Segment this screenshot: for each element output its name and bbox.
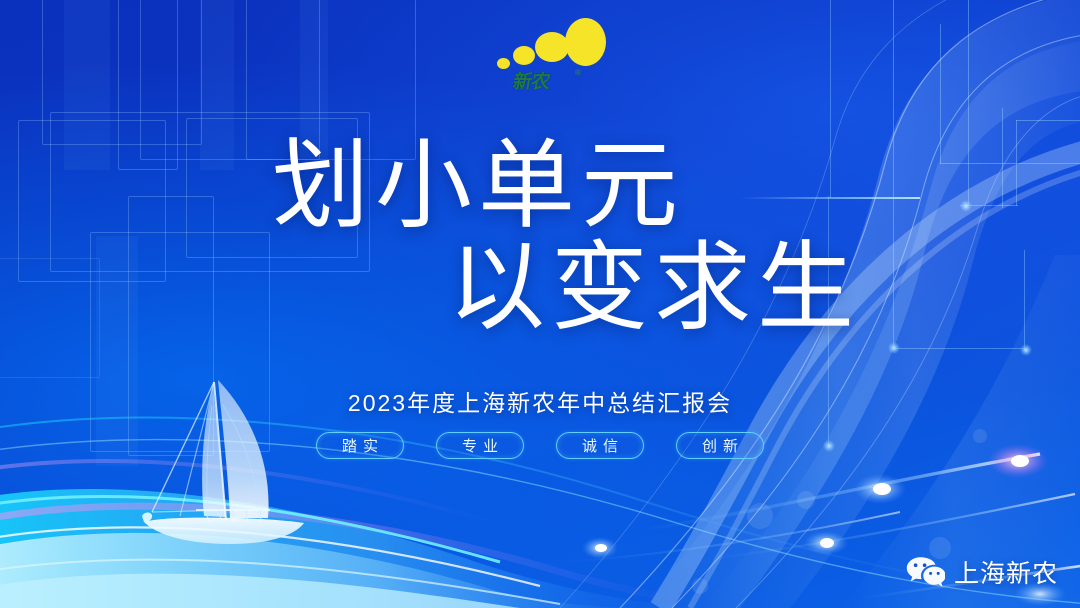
poster-canvas: 新农 ® 划小单元 以变求生 2023年度上海新农年中总结汇报会 踏实 专业 诚… <box>0 0 1080 608</box>
tag-pill-2[interactable]: 诚信 <box>556 432 644 459</box>
logo-bubble-4 <box>565 18 606 66</box>
value-tags: 踏实 专业 诚信 创新 <box>0 432 1080 459</box>
wechat-footer: 上海新农 <box>905 554 1058 590</box>
headline-line-1: 划小单元 <box>272 138 684 237</box>
tag-pill-3[interactable]: 创新 <box>676 432 764 459</box>
wechat-account-name: 上海新农 <box>954 554 1058 590</box>
xinnong-logo: 新农 ® <box>495 18 600 98</box>
logo-trademark: ® <box>575 68 581 77</box>
headline-line-2: 以变求生 <box>448 240 860 339</box>
logo-bubble-2 <box>513 46 535 65</box>
tag-pill-0[interactable]: 踏实 <box>316 432 404 459</box>
logo-wordmark: 新农 <box>511 72 577 94</box>
wechat-icon <box>905 555 945 589</box>
logo-bubble-3 <box>535 32 569 62</box>
tag-pill-1[interactable]: 专业 <box>436 432 524 459</box>
subtitle: 2023年度上海新农年中总结汇报会 <box>0 384 1080 418</box>
logo-bubble-1 <box>497 58 510 69</box>
